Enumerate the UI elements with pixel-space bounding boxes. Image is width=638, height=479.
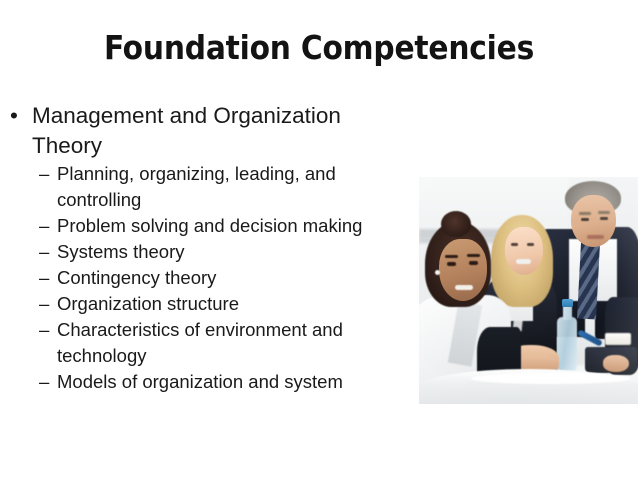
- bullet-dash-icon: –: [39, 317, 49, 343]
- bullet-dash-icon: –: [39, 213, 49, 239]
- slide-photo: [419, 177, 638, 404]
- bullet-level2-label: Contingency theory: [57, 265, 409, 291]
- bullet-level2-label: Organization structure: [57, 291, 409, 317]
- bullet-level2-item: – Organization structure: [0, 291, 418, 317]
- bullet-level1-item: • Management and Organization Theory: [0, 101, 418, 161]
- bullet-level2-item: – Systems theory: [0, 239, 418, 265]
- presentation-slide: Foundation Competencies • Management and…: [0, 0, 638, 479]
- bullet-dash-icon: –: [39, 369, 49, 395]
- bullet-dot-icon: •: [10, 101, 18, 131]
- bullet-dash-icon: –: [39, 239, 49, 265]
- bullet-level2-label: Planning, organizing, leading, and contr…: [57, 161, 409, 213]
- bullet-level2-item: – Models of organization and system: [0, 369, 418, 395]
- bullet-level2-label: Models of organization and system: [57, 369, 409, 395]
- photo-soft-vignette: [419, 177, 638, 404]
- bullet-dash-icon: –: [39, 161, 49, 187]
- bullet-level2-label: Systems theory: [57, 239, 409, 265]
- bullet-level2-label: Characteristics of environment and techn…: [57, 317, 409, 369]
- bullet-level2-item: – Contingency theory: [0, 265, 418, 291]
- bullet-level2-item: – Planning, organizing, leading, and con…: [0, 161, 418, 213]
- slide-body-bullet-list: • Management and Organization Theory – P…: [0, 101, 418, 395]
- bullet-dash-icon: –: [39, 291, 49, 317]
- bullet-dash-icon: –: [39, 265, 49, 291]
- bullet-level2-label: Problem solving and decision making: [57, 213, 409, 239]
- bullet-level2-item: – Characteristics of environment and tec…: [0, 317, 418, 369]
- bullet-level1-label: Management and Organization Theory: [32, 101, 372, 161]
- bullet-level2-item: – Problem solving and decision making: [0, 213, 418, 239]
- page-title: Foundation Competencies: [0, 28, 638, 68]
